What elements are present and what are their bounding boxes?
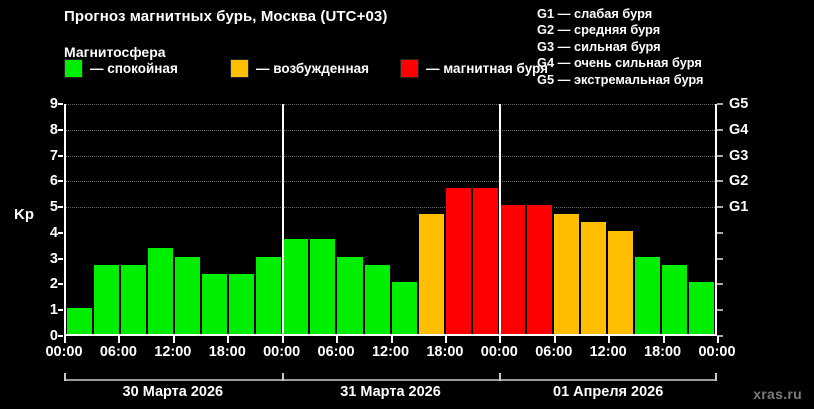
- bar: [580, 222, 607, 334]
- g-axis-tick-mark-9: [717, 103, 723, 105]
- y-tick-label-1: 1: [6, 302, 58, 318]
- bar: [364, 265, 391, 334]
- x-tick-label-0: 00:00: [45, 344, 82, 360]
- x-tick-mark-10: [608, 336, 610, 343]
- legend-label-unsettled: — возбужденная: [256, 61, 369, 76]
- bar: [309, 239, 336, 334]
- g-axis-tick-mark-3: [717, 258, 723, 260]
- x-tick-label-11: 18:00: [644, 344, 681, 360]
- legend-swatch-storm: [400, 59, 419, 78]
- legend-label-storm: — магнитная буря: [426, 61, 548, 76]
- g-scale-line-2: G2 — средняя буря: [537, 22, 704, 38]
- y-tick-mark-8: [58, 129, 63, 131]
- g-axis-tick-mark-6: [717, 180, 723, 182]
- x-tick-label-5: 06:00: [318, 344, 355, 360]
- x-tick-label-3: 18:00: [209, 344, 246, 360]
- day-label-3: 01 Апреля 2026: [553, 384, 663, 400]
- x-tick-label-6: 12:00: [372, 344, 409, 360]
- y-tick-mark-5: [58, 206, 63, 208]
- g-axis-label-G2: G2: [729, 173, 748, 189]
- x-tick-mark-4: [282, 336, 284, 343]
- day-bracket-tick-1: [282, 373, 284, 381]
- bar: [553, 214, 580, 334]
- bar: [147, 248, 174, 334]
- g-axis-tick-mark-8: [717, 129, 723, 131]
- x-tick-label-9: 06:00: [535, 344, 572, 360]
- x-tick-mark-6: [391, 336, 393, 343]
- bar-series: [66, 104, 715, 334]
- bar: [391, 282, 418, 334]
- legend-swatch-calm: [64, 59, 83, 78]
- bar: [661, 265, 688, 334]
- g-axis-label-G1: G1: [729, 199, 748, 215]
- bar: [418, 214, 445, 334]
- y-tick-label-0: 0: [6, 328, 58, 344]
- day-bracket: [64, 373, 717, 383]
- x-tick-mark-0: [64, 336, 66, 343]
- legend-item-unsettled: — возбужденная: [230, 59, 369, 78]
- x-tick-mark-9: [554, 336, 556, 343]
- day-label-2: 31 Марта 2026: [340, 384, 441, 400]
- legend-item-storm: — магнитная буря: [400, 59, 548, 78]
- legend-label-calm: — спокойная: [90, 61, 178, 76]
- y-tick-mark-0: [58, 335, 63, 337]
- g-axis-tick-mark-5: [717, 206, 723, 208]
- y-tick-label-6: 6: [6, 173, 58, 189]
- bar: [526, 205, 553, 334]
- bar: [499, 205, 526, 334]
- g-scale-line-1: G1 — слабая буря: [537, 6, 704, 22]
- g-axis-tick-mark-7: [717, 155, 723, 157]
- bar: [336, 257, 363, 334]
- y-tick-label-4: 4: [6, 225, 58, 241]
- day-labels: 30 Марта 202631 Марта 202601 Апреля 2026: [0, 384, 814, 406]
- bar: [120, 265, 147, 334]
- x-tick-mark-5: [336, 336, 338, 343]
- bar: [66, 308, 93, 334]
- x-tick-mark-11: [663, 336, 665, 343]
- y-tick-label-3: 3: [6, 251, 58, 267]
- y-tick-label-7: 7: [6, 148, 58, 164]
- x-tick-mark-8: [499, 336, 501, 343]
- x-tick-mark-1: [118, 336, 120, 343]
- chart-plot-area: [64, 104, 717, 336]
- y-tick-mark-9: [58, 103, 63, 105]
- x-tick-mark-7: [445, 336, 447, 343]
- g-axis-tick-mark-1: [717, 309, 723, 311]
- g-axis-tick-mark-4: [717, 232, 723, 234]
- day-bracket-line: [64, 379, 717, 381]
- g-axis-label-G5: G5: [729, 96, 748, 112]
- y-tick-mark-2: [58, 283, 63, 285]
- x-tick-label-1: 06:00: [100, 344, 137, 360]
- y-tick-mark-7: [58, 155, 63, 157]
- bar: [607, 231, 634, 334]
- day-separator-2: [499, 104, 501, 334]
- bar: [228, 274, 255, 334]
- bar: [201, 274, 228, 334]
- x-tick-label-10: 12:00: [590, 344, 627, 360]
- g-axis: G1G2G3G4G5: [717, 104, 812, 336]
- g-scale-line-3: G3 — сильная буря: [537, 39, 704, 55]
- bar: [93, 265, 120, 334]
- day-bracket-tick-3: [715, 373, 717, 381]
- x-tick-label-2: 12:00: [154, 344, 191, 360]
- bar: [174, 257, 201, 334]
- bar: [255, 257, 282, 334]
- x-tick-mark-12: [717, 336, 719, 343]
- y-tick-mark-1: [58, 309, 63, 311]
- legend-swatch-unsettled: [230, 59, 249, 78]
- bar: [688, 282, 715, 334]
- y-tick-mark-6: [58, 180, 63, 182]
- x-axis-ticks: [64, 336, 717, 344]
- day-separator-1: [282, 104, 284, 334]
- watermark: xras.ru: [753, 386, 802, 402]
- x-tick-label-4: 00:00: [263, 344, 300, 360]
- bar: [634, 257, 661, 334]
- x-tick-label-12: 00:00: [698, 344, 735, 360]
- g-scale-line-5: G5 — экстремальная буря: [537, 72, 704, 88]
- y-tick-mark-3: [58, 258, 63, 260]
- y-tick-label-2: 2: [6, 276, 58, 292]
- x-axis-labels: 00:0006:0012:0018:0000:0006:0012:0018:00…: [0, 344, 814, 364]
- x-tick-label-7: 18:00: [426, 344, 463, 360]
- legend-item-calm: — спокойная: [64, 59, 178, 78]
- page-title: Прогноз магнитных бурь, Москва (UTC+03): [64, 8, 387, 25]
- y-tick-mark-4: [58, 232, 63, 234]
- bar: [282, 239, 309, 334]
- day-bracket-tick-2: [499, 373, 501, 381]
- bar: [445, 188, 472, 334]
- y-tick-label-8: 8: [6, 122, 58, 138]
- x-tick-label-8: 00:00: [481, 344, 518, 360]
- g-scale-line-4: G4 — очень сильная буря: [537, 55, 704, 71]
- y-tick-label-9: 9: [6, 96, 58, 112]
- g-axis-tick-mark-2: [717, 283, 723, 285]
- x-tick-mark-2: [173, 336, 175, 343]
- bar: [472, 188, 499, 334]
- g-axis-label-G4: G4: [729, 122, 748, 138]
- g-scale-legend: G1 — слабая буряG2 — средняя буряG3 — си…: [537, 6, 704, 88]
- day-label-1: 30 Марта 2026: [123, 384, 224, 400]
- day-bracket-tick-0: [64, 373, 66, 381]
- g-axis-label-G3: G3: [729, 148, 748, 164]
- y-axis-label: Kp: [14, 206, 34, 223]
- x-tick-mark-3: [227, 336, 229, 343]
